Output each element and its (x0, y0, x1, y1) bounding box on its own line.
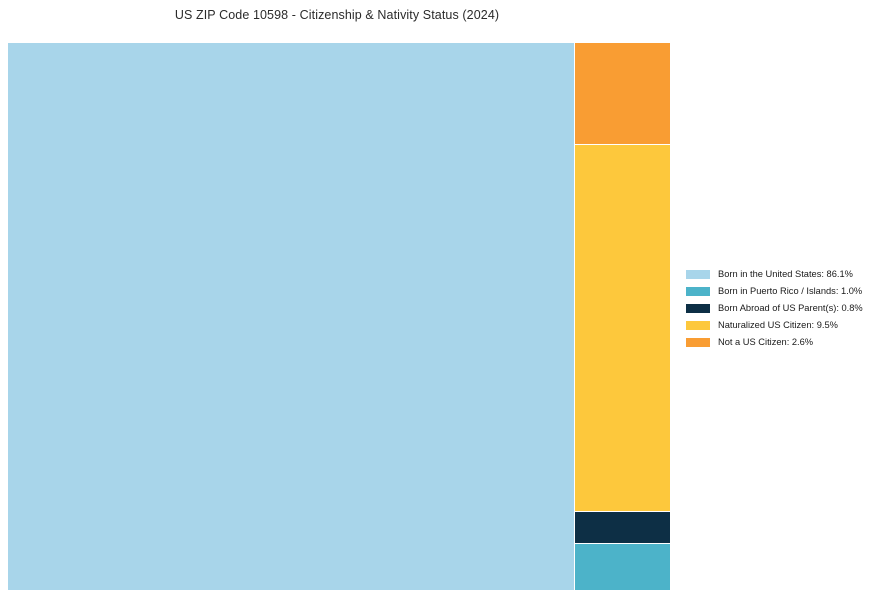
legend-item-born-in-puerto-rico-islands[interactable]: Born in Puerto Rico / Islands: 1.0% (686, 283, 882, 300)
legend-swatch-icon (686, 321, 710, 330)
legend-item-naturalized-us-citizen[interactable]: Naturalized US Citizen: 9.5% (686, 317, 882, 334)
legend-item-label: Born in Puerto Rico / Islands: 1.0% (718, 286, 862, 297)
treemap-tile-naturalized-us-citizen[interactable] (575, 145, 670, 511)
legend-item-label: Born Abroad of US Parent(s): 0.8% (718, 303, 863, 314)
treemap-plot-area (8, 43, 670, 590)
treemap-tile-born-in-the-united-states[interactable] (8, 43, 574, 590)
legend-item-not-a-us-citizen[interactable]: Not a US Citizen: 2.6% (686, 334, 882, 351)
legend-item-born-in-the-united-states[interactable]: Born in the United States: 86.1% (686, 266, 882, 283)
legend-swatch-icon (686, 270, 710, 279)
legend-item-born-abroad-of-us-parents[interactable]: Born Abroad of US Parent(s): 0.8% (686, 300, 882, 317)
treemap-tile-not-a-us-citizen[interactable] (575, 43, 670, 144)
legend-swatch-icon (686, 338, 710, 347)
legend-item-label: Born in the United States: 86.1% (718, 269, 853, 280)
treemap-tile-born-in-puerto-rico-islands[interactable] (575, 544, 670, 590)
chart-legend: Born in the United States: 86.1% Born in… (686, 266, 882, 351)
treemap-tile-born-abroad-of-us-parents[interactable] (575, 512, 670, 543)
legend-swatch-icon (686, 304, 710, 313)
legend-item-label: Naturalized US Citizen: 9.5% (718, 320, 838, 331)
legend-swatch-icon (686, 287, 710, 296)
legend-item-label: Not a US Citizen: 2.6% (718, 337, 813, 348)
treemap-figure: US ZIP Code 10598 - Citizenship & Nativi… (0, 0, 889, 590)
chart-title: US ZIP Code 10598 - Citizenship & Nativi… (0, 8, 674, 22)
